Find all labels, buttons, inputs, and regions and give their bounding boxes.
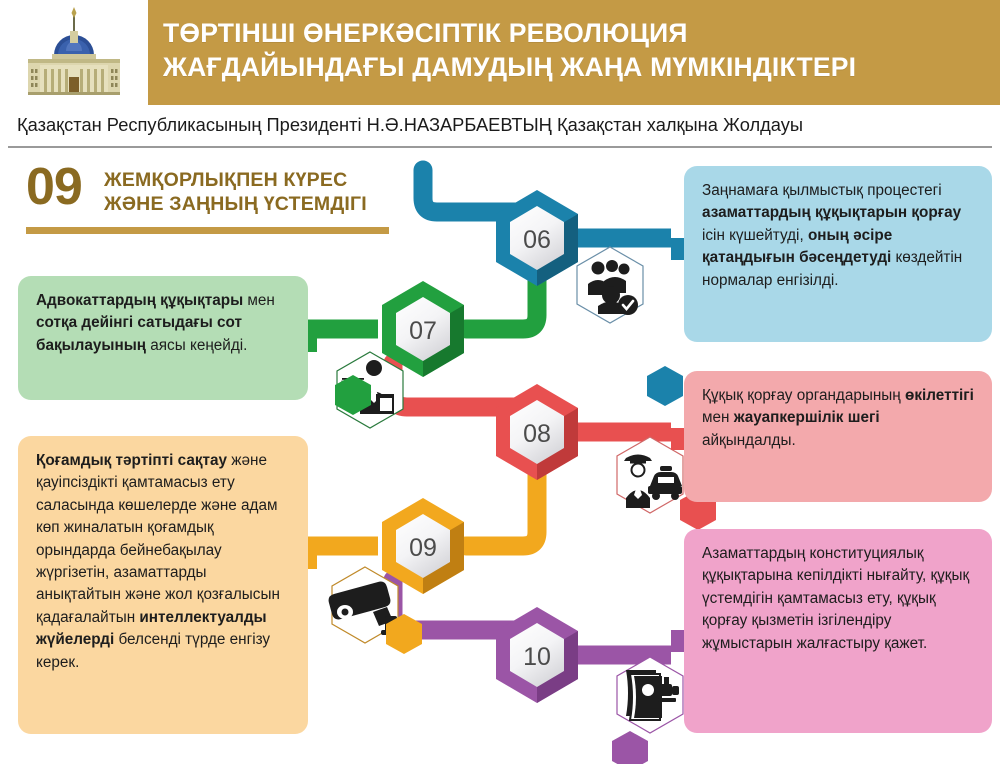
- accent-hex-blue: [647, 366, 683, 406]
- info-card-06: Заңнамаға қылмыстық процестегі азаматтар…: [684, 166, 992, 342]
- hex-label-09: 09: [409, 534, 437, 562]
- people-check-icon: [577, 247, 643, 323]
- hex-label-10: 10: [523, 643, 551, 671]
- card-notch-06: [671, 238, 685, 260]
- info-card-10: Азаматтардың конституциялық құқықтарына …: [684, 529, 992, 733]
- hex-label-06: 06: [523, 226, 551, 254]
- page-title: ТӨРТІНШІ ӨНЕРКӘСІПТІК РЕВОЛЮЦИЯ ЖАҒДАЙЫН…: [163, 16, 993, 84]
- infographic-page: ТӨРТІНШІ ӨНЕРКӘСІПТІК РЕВОЛЮЦИЯ ЖАҒДАЙЫН…: [0, 0, 1000, 764]
- subtitle-bar: Қазақстан Республикасының Президенті Н.Ә…: [0, 105, 1000, 145]
- akorda-palace-icon: [0, 0, 148, 105]
- accent-hex-purple: [612, 731, 648, 764]
- hex-label-07: 07: [409, 317, 437, 345]
- title-line-1: ТӨРТІНШІ ӨНЕРКӘСІПТІК РЕВОЛЮЦИЯ: [163, 16, 993, 50]
- title-line-2: ЖАҒДАЙЫНДАҒЫ ДАМУДЫҢ ЖАҢА МҮМКІНДІКТЕРІ: [163, 50, 993, 84]
- info-card-07: Адвокаттардың құқықтары мен сотқа дейінг…: [18, 276, 308, 400]
- document-stamp-icon: [617, 657, 683, 733]
- card-notch-08: [671, 428, 685, 450]
- header-divider: [8, 146, 992, 148]
- info-card-08: Құқық қорғау органдарының өкілеттігі мен…: [684, 371, 992, 502]
- info-card-09: Қоғамдық тәртіпті сақтау және қауіпсізді…: [18, 436, 308, 734]
- subtitle-text: Қазақстан Республикасының Президенті Н.Ә…: [0, 114, 803, 136]
- hex-label-08: 08: [523, 420, 551, 448]
- card-notch-10: [671, 630, 685, 652]
